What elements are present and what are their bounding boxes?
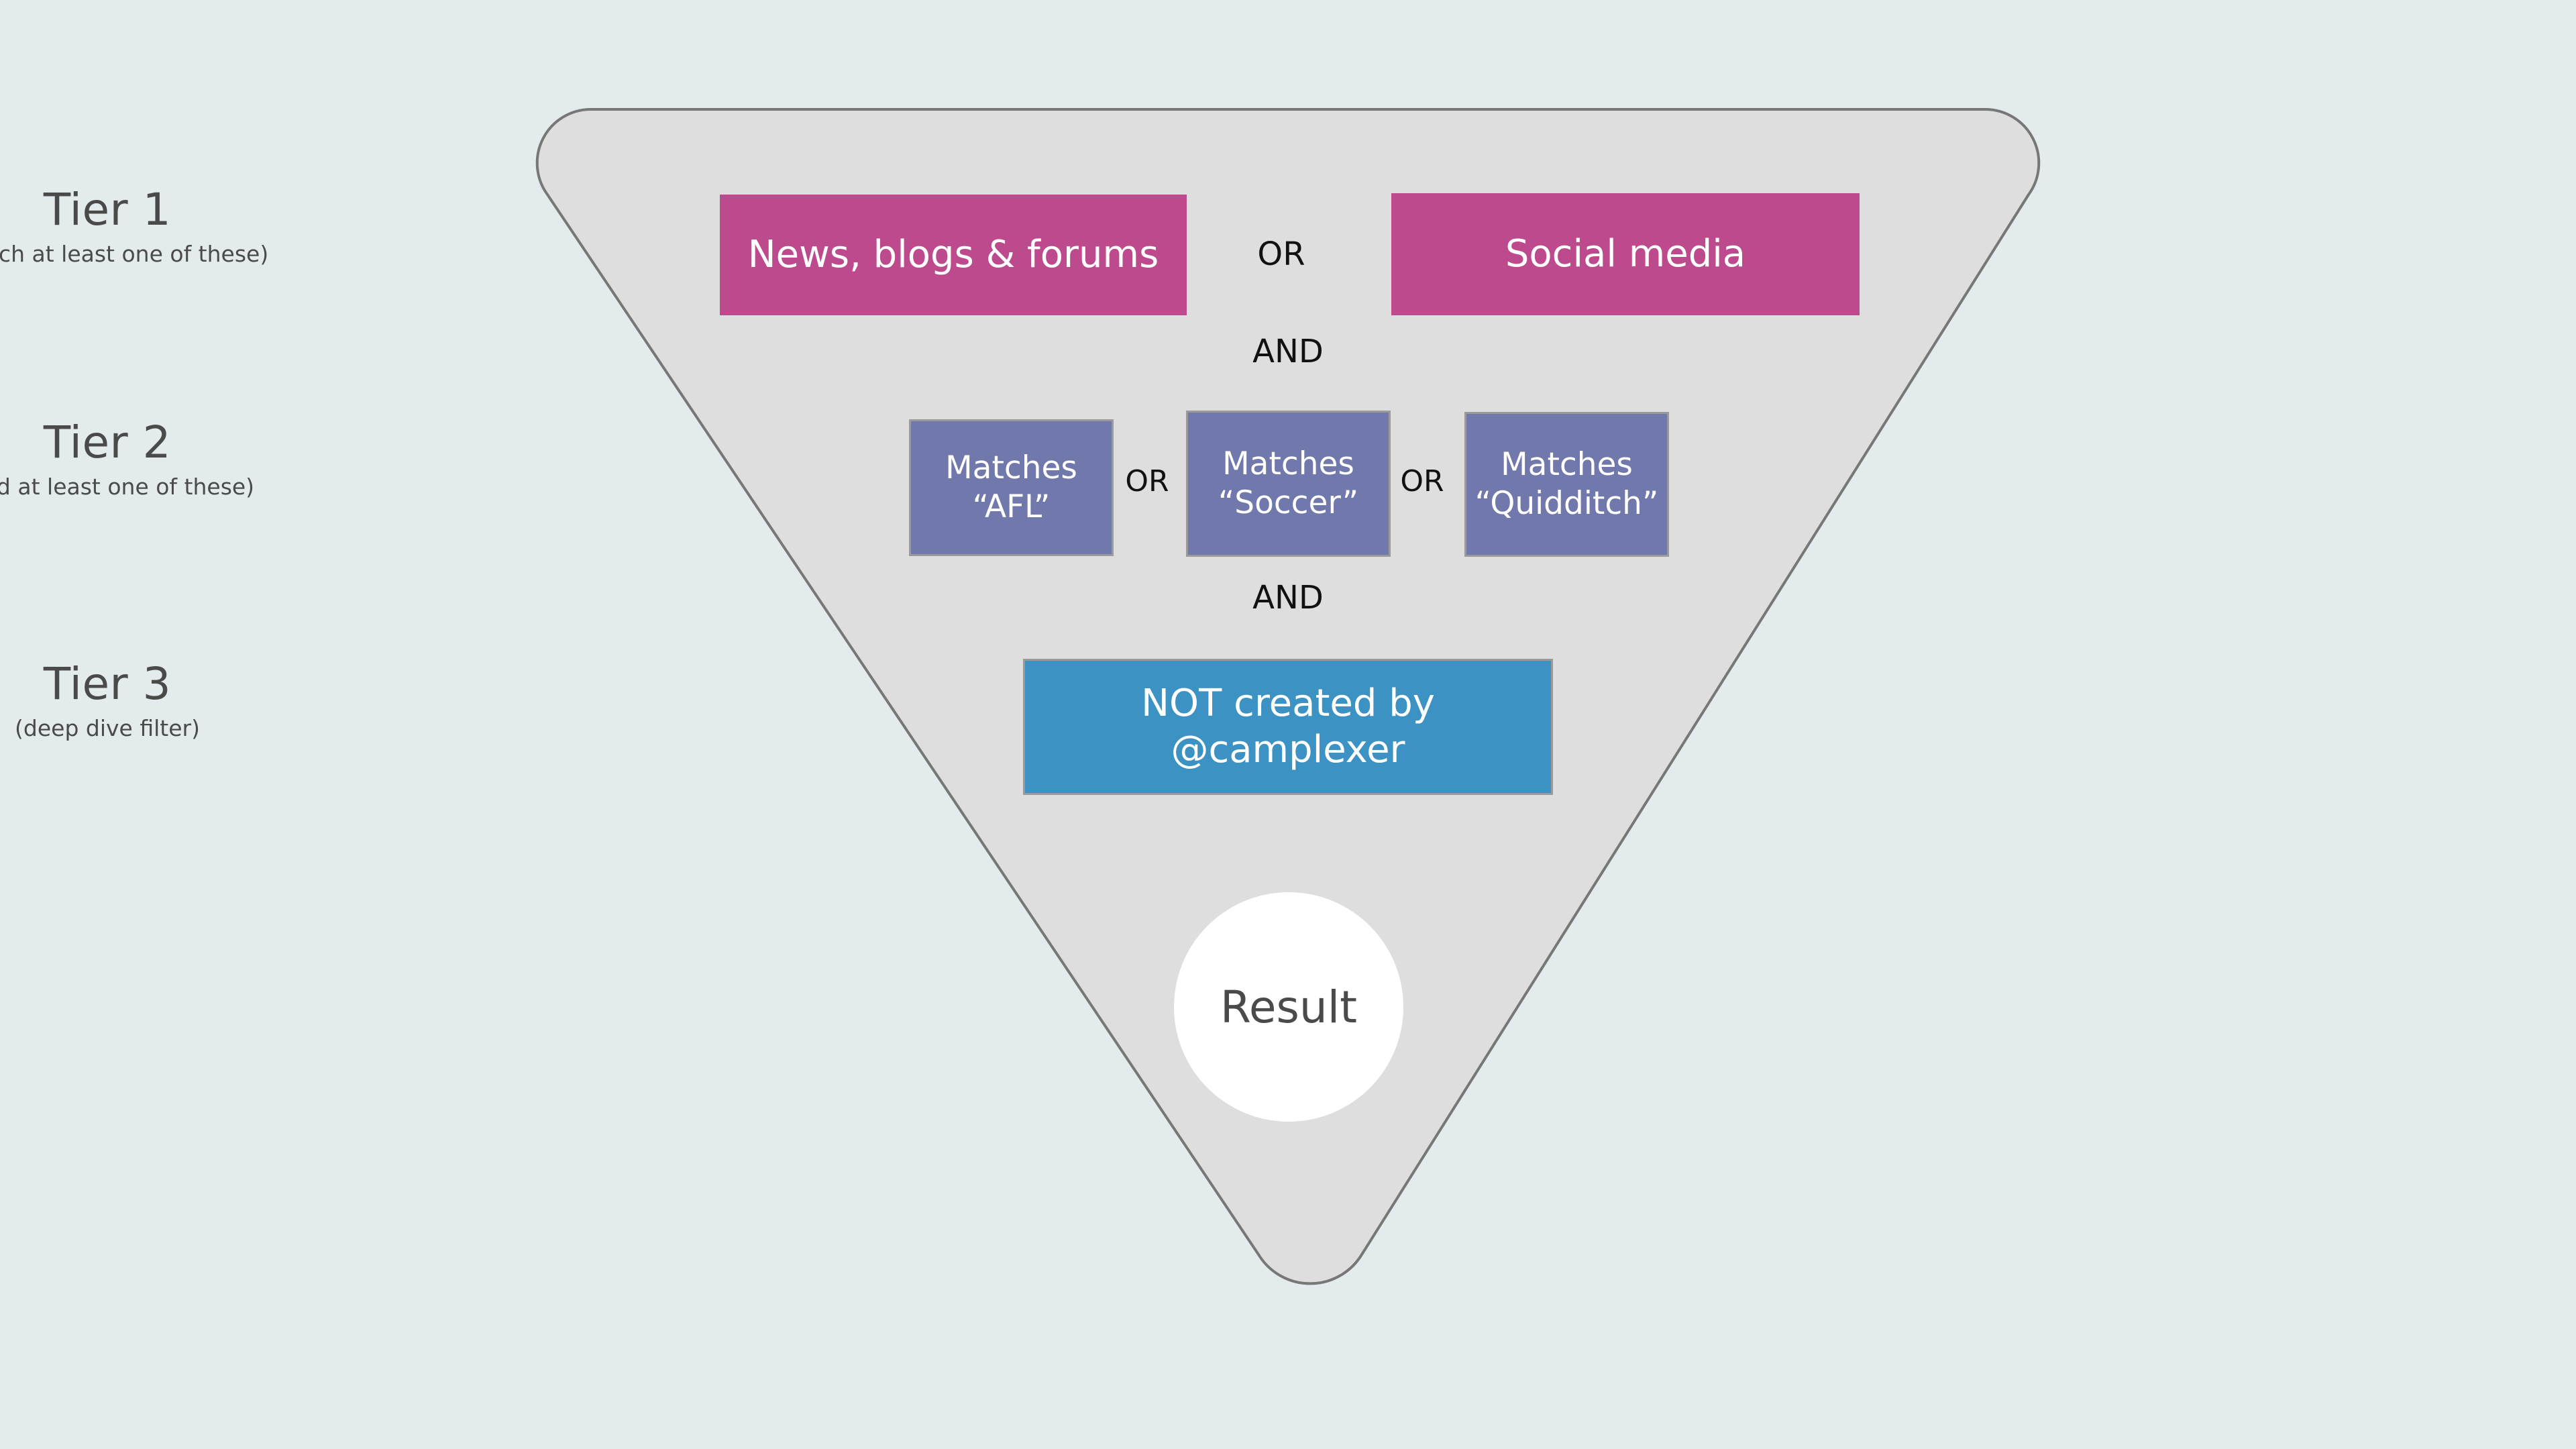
condition-box-social-media[interactable]: Social media	[1391, 193, 1860, 315]
condition-label: Social media	[1496, 231, 1755, 277]
tier-2-title: Tier 2	[0, 419, 362, 466]
tier-1-title: Tier 1	[0, 186, 362, 233]
condition-label: Matches “Quidditch”	[1466, 445, 1668, 524]
tier-3-label: Tier 3 (deep dive filter)	[0, 661, 362, 741]
condition-label: News, blogs & forums	[739, 232, 1169, 278]
operator-or-tier2-a: OR	[1107, 467, 1187, 496]
result-label: Result	[1220, 981, 1357, 1033]
operator-or-tier1: OR	[1221, 238, 1342, 270]
tier-1-subtitle: (match at least one of these)	[0, 242, 362, 266]
tier-2-label: Tier 2 (and at least one of these)	[0, 419, 362, 500]
operator-and-tier2-tier3: AND	[1228, 582, 1348, 614]
tier-3-subtitle: (deep dive filter)	[0, 716, 362, 741]
operator-or-tier2-b: OR	[1382, 467, 1462, 496]
condition-label: NOT created by @camplexer	[1025, 681, 1551, 773]
result-node[interactable]: Result	[1174, 892, 1403, 1122]
condition-box-not-created-by[interactable]: NOT created by @camplexer	[1023, 659, 1553, 795]
tier-2-subtitle: (and at least one of these)	[0, 475, 362, 499]
tier-3-title: Tier 3	[0, 661, 362, 707]
condition-box-matches-soccer[interactable]: Matches “Soccer”	[1186, 411, 1391, 557]
condition-box-news-blogs-forums[interactable]: News, blogs & forums	[720, 195, 1187, 315]
condition-label: Matches “Soccer”	[1209, 445, 1368, 523]
operator-and-tier1-tier2: AND	[1228, 335, 1348, 368]
diagram-canvas: Tier 1 (match at least one of these) Tie…	[0, 0, 2576, 1449]
condition-box-matches-afl[interactable]: Matches “AFL”	[909, 419, 1114, 556]
tier-1-label: Tier 1 (match at least one of these)	[0, 186, 362, 267]
condition-label: Matches “AFL”	[936, 449, 1087, 527]
condition-box-matches-quidditch[interactable]: Matches “Quidditch”	[1464, 412, 1669, 557]
